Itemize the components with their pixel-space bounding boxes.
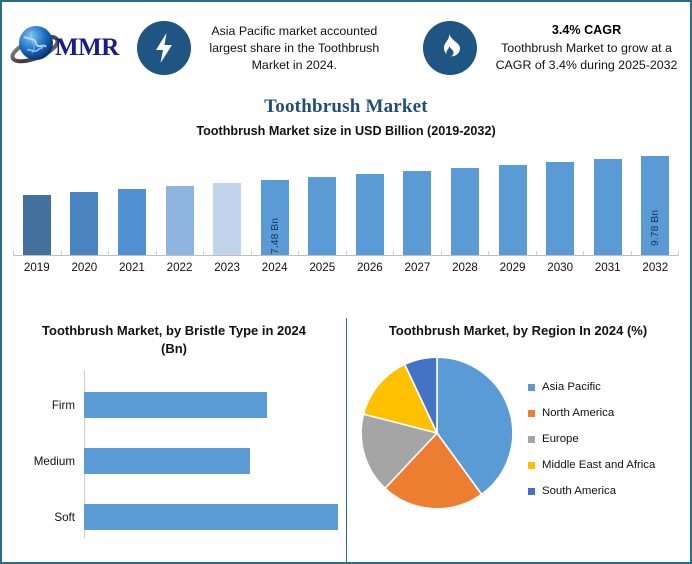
market-size-plot-area: 7.48 Bn9.78 Bn 2019202020212022202320242… bbox=[13, 142, 679, 278]
bristle-bar-firm bbox=[84, 392, 267, 418]
legend-label: Asia Pacific bbox=[542, 381, 601, 393]
x-tick-label: 2022 bbox=[156, 258, 204, 278]
bar-column bbox=[108, 142, 156, 256]
bristle-bar-row: Medium bbox=[2, 448, 346, 474]
x-tick-label: 2024 bbox=[251, 258, 299, 278]
infographic-root: MMR Asia Pacific market accounted larges… bbox=[0, 0, 692, 564]
bar-column bbox=[203, 142, 251, 256]
legend-swatch-north-america bbox=[528, 410, 535, 417]
x-tick-label: 2019 bbox=[13, 258, 61, 278]
bar-column: 7.48 Bn bbox=[251, 142, 299, 256]
x-tick-label: 2029 bbox=[489, 258, 537, 278]
bar-column bbox=[536, 142, 584, 256]
bristle-bar-row: Firm bbox=[2, 392, 346, 418]
legend-item: North America bbox=[528, 400, 688, 426]
page-title: Toothbrush Market bbox=[2, 96, 690, 118]
legend-swatch-middle-east-and-africa bbox=[528, 462, 535, 469]
bar-column bbox=[156, 142, 204, 256]
bristle-label-soft: Soft bbox=[2, 511, 80, 524]
bristle-bar-track bbox=[80, 392, 346, 418]
market-size-chart-title: Toothbrush Market size in USD Billion (2… bbox=[6, 124, 686, 138]
bar-2028 bbox=[451, 168, 479, 256]
bar-2026 bbox=[356, 174, 384, 256]
region-pie-chart-title: Toothbrush Market, by Region In 2024 (%) bbox=[346, 314, 690, 340]
x-tick-label: 2031 bbox=[584, 258, 632, 278]
bar-2030 bbox=[546, 162, 574, 256]
bar-column bbox=[13, 142, 61, 256]
bar-2022 bbox=[166, 186, 194, 256]
bar-value-label-2024: 7.48 Bn bbox=[269, 218, 281, 254]
market-size-bars: 7.48 Bn9.78 Bn bbox=[13, 142, 679, 256]
bristle-bar-track bbox=[80, 504, 346, 530]
bristle-label-medium: Medium bbox=[2, 455, 80, 468]
section-divider bbox=[346, 318, 347, 562]
brand-name: MMR bbox=[55, 34, 119, 62]
bristle-bar-track bbox=[80, 448, 346, 474]
bristle-type-plot-area: FirmMediumSoft bbox=[2, 370, 346, 548]
bar-column bbox=[394, 142, 442, 256]
legend-item: Europe bbox=[528, 426, 688, 452]
x-axis-line bbox=[13, 255, 679, 256]
x-axis-labels: 2019202020212022202320242025202620272028… bbox=[13, 258, 679, 278]
bar-column bbox=[489, 142, 537, 256]
bar-2021 bbox=[118, 189, 146, 256]
x-tick-label: 2026 bbox=[346, 258, 394, 278]
header-bar: MMR Asia Pacific market accounted larges… bbox=[2, 2, 690, 94]
bristle-type-chart-title: Toothbrush Market, by Bristle Type in 20… bbox=[2, 314, 346, 358]
x-tick-label: 2021 bbox=[108, 258, 156, 278]
bar-column bbox=[584, 142, 632, 256]
bristle-label-firm: Firm bbox=[2, 399, 80, 412]
x-tick-label: 2023 bbox=[203, 258, 251, 278]
bar-2032: 9.78 Bn bbox=[641, 156, 669, 256]
bar-2027 bbox=[403, 171, 431, 256]
legend-swatch-europe bbox=[528, 436, 535, 443]
legend-label: South America bbox=[542, 485, 616, 497]
bar-value-label-2032: 9.78 Bn bbox=[649, 210, 661, 246]
cagr-headline: 3.4% CAGR bbox=[487, 22, 686, 39]
bar-column bbox=[346, 142, 394, 256]
bar-2024: 7.48 Bn bbox=[261, 180, 289, 256]
flame-icon bbox=[423, 21, 477, 75]
lightning-bolt-icon bbox=[137, 21, 191, 75]
x-tick-label: 2025 bbox=[298, 258, 346, 278]
bar-column bbox=[441, 142, 489, 256]
bristle-bar-medium bbox=[84, 448, 250, 474]
bar-column bbox=[298, 142, 346, 256]
bristle-bar-row: Soft bbox=[2, 504, 346, 530]
x-tick-label: 2030 bbox=[536, 258, 584, 278]
legend-item: Middle East and Africa bbox=[528, 452, 688, 478]
legend-label: North America bbox=[542, 407, 614, 419]
legend-label: Europe bbox=[542, 433, 579, 445]
bar-2023 bbox=[213, 183, 241, 256]
bar-2031 bbox=[594, 159, 622, 256]
bar-2025 bbox=[308, 177, 336, 256]
bristle-type-chart: Toothbrush Market, by Bristle Type in 20… bbox=[2, 314, 346, 562]
header-left-text: Asia Pacific market accounted largest sh… bbox=[191, 23, 398, 74]
market-size-chart: Toothbrush Market size in USD Billion (2… bbox=[6, 124, 686, 309]
header-right-block: 3.4% CAGR Toothbrush Market to grow at a… bbox=[483, 22, 690, 74]
legend-label: Middle East and Africa bbox=[542, 459, 655, 471]
legend-item: South America bbox=[528, 478, 688, 504]
legend-swatch-asia-pacific bbox=[528, 384, 535, 391]
legend-item: Asia Pacific bbox=[528, 374, 688, 400]
x-tick-label: 2020 bbox=[61, 258, 109, 278]
bristle-bar-soft bbox=[84, 504, 338, 530]
brand-logo: MMR bbox=[2, 2, 130, 94]
bar-column: 9.78 Bn bbox=[632, 142, 680, 256]
pie-slices bbox=[358, 354, 516, 512]
bar-column bbox=[61, 142, 109, 256]
x-tick-label: 2032 bbox=[632, 258, 680, 278]
header-right-text: Toothbrush Market to grow at a CAGR of 3… bbox=[496, 41, 678, 72]
x-tick-label: 2027 bbox=[394, 258, 442, 278]
region-pie-plot-area: Asia PacificNorth AmericaEuropeMiddle Ea… bbox=[346, 346, 690, 536]
bar-2019 bbox=[23, 195, 51, 256]
region-pie-chart: Toothbrush Market, by Region In 2024 (%)… bbox=[346, 314, 690, 562]
pie-legend: Asia PacificNorth AmericaEuropeMiddle Ea… bbox=[528, 374, 688, 504]
bar-2020 bbox=[70, 192, 98, 256]
bar-2029 bbox=[499, 165, 527, 256]
x-tick-label: 2028 bbox=[441, 258, 489, 278]
legend-swatch-south-america bbox=[528, 488, 535, 495]
